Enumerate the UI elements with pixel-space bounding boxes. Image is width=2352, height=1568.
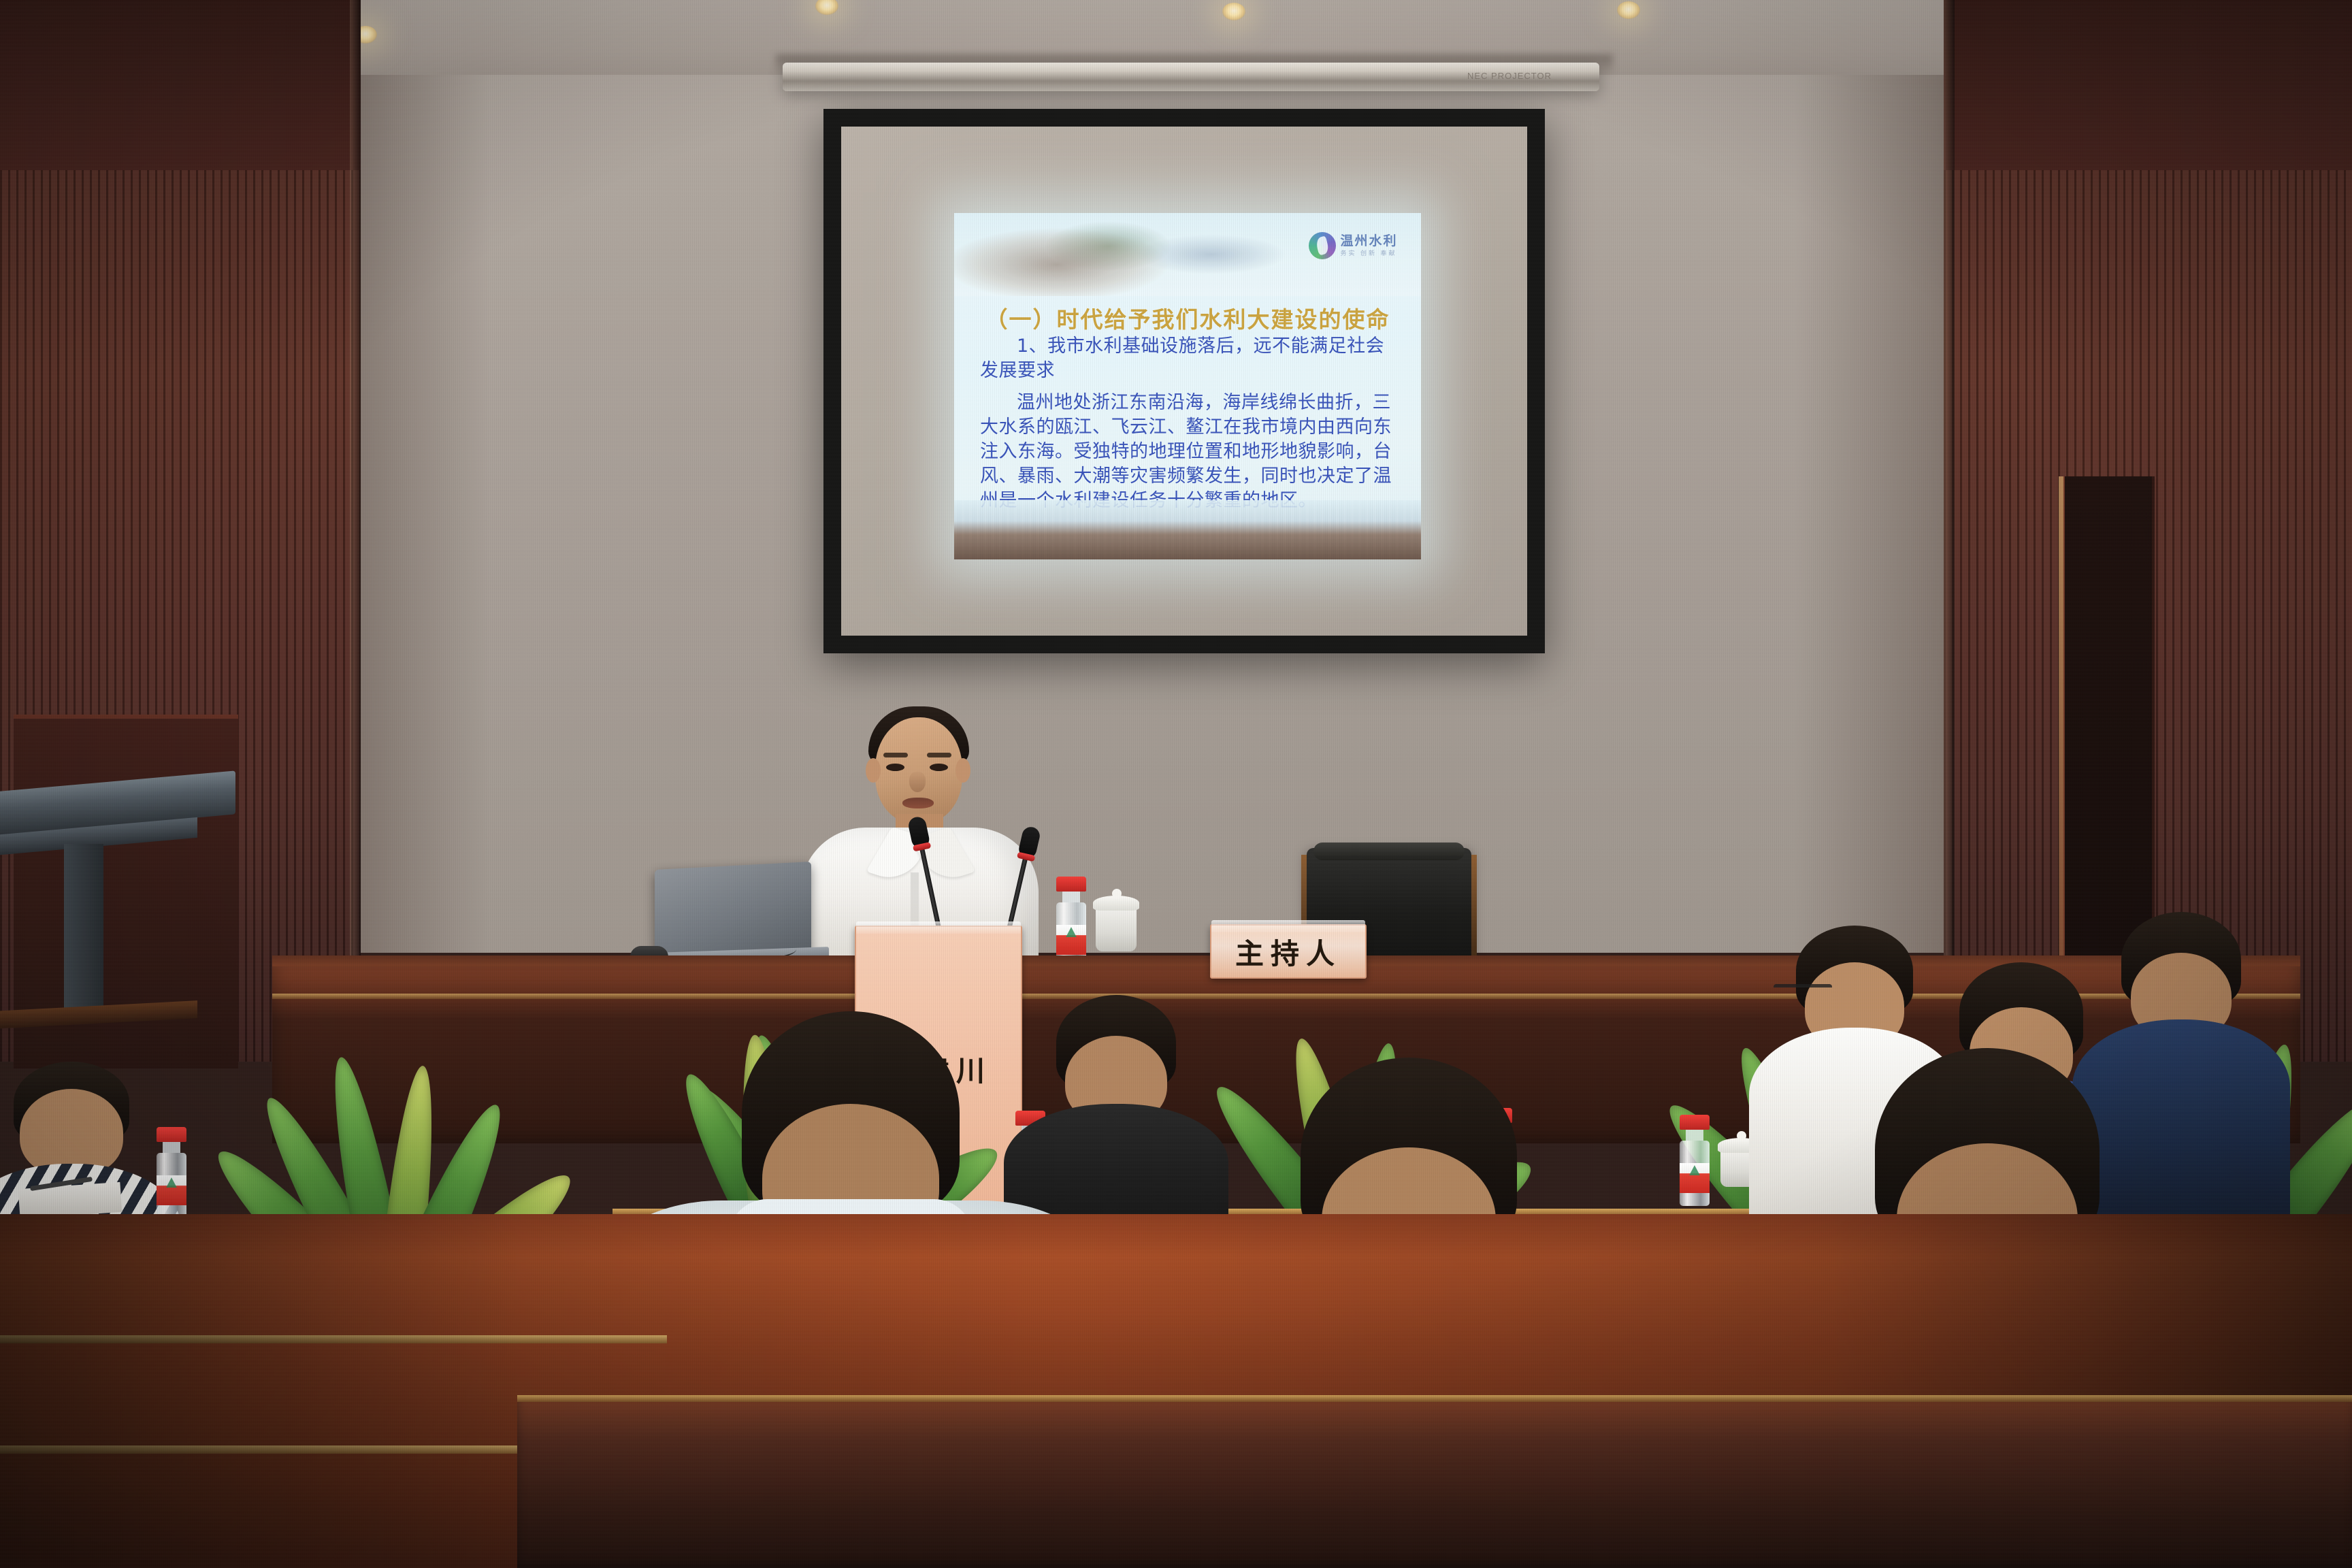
logo-subtitle: 务实 创新 奉献 [1340, 250, 1397, 257]
slide-footer-photo [954, 500, 1420, 559]
ceiling-downlight [1222, 3, 1245, 20]
placard-acrylic-front [1211, 920, 1365, 932]
speaker-ear-left [866, 758, 881, 783]
head [20, 1089, 123, 1176]
slide-logo: 温州水利 务实 创新 奉献 [1309, 232, 1397, 259]
water-bottle[interactable] [157, 1127, 186, 1218]
presentation-slide: 温州水利 务实 创新 奉献 （一）时代给予我们水利大建设的使命 1、我市水利基础… [954, 213, 1420, 559]
water-resources-logo-icon [1309, 232, 1336, 259]
speaker-eye-right [930, 764, 948, 771]
slide-bullet-1: 1、我市水利基础设施落后，远不能满足社会发展要求 [980, 334, 1400, 383]
bottle-label [157, 1175, 186, 1205]
water-bottle[interactable] [1056, 877, 1086, 968]
projector-screen-roller[interactable]: NEC PROJECTOR [783, 63, 1599, 91]
panel-edge [1944, 0, 1955, 1062]
placard-acrylic-front [856, 921, 1021, 934]
chair-headrest [1313, 843, 1465, 860]
panel-edge [350, 0, 361, 1062]
teacup-knob [1112, 889, 1122, 898]
placard-host-name: 主持人 [1235, 931, 1341, 973]
speaker-brow-right [927, 753, 951, 757]
bottle-cap [157, 1127, 186, 1142]
bottle-label [1056, 925, 1086, 955]
panel-top-band [0, 0, 361, 170]
bottle-neck [163, 1142, 180, 1153]
speaker-mouth [902, 798, 934, 808]
lectern[interactable] [0, 781, 235, 1006]
logo-text-block: 温州水利 务实 创新 奉献 [1340, 235, 1397, 257]
speaker-nose [909, 772, 926, 792]
panel-top-band [1944, 0, 2352, 170]
speaker-ear-right [955, 758, 970, 783]
conference-room-photo: NEC PROJECTOR 温州水利 务实 创新 奉献 （一）时代给予我们水利大… [0, 0, 2352, 1568]
bottle-cap [1056, 877, 1086, 892]
slide-paragraph-1: 温州地处浙江东南沿海，海岸线绵长曲折，三大水系的瓯江、飞云江、鳌江在我市境内由西… [980, 391, 1400, 514]
slide-title: （一）时代给予我们水利大建设的使命 [954, 301, 1420, 334]
eyeglasses-icon [1774, 984, 1832, 995]
lectern-stem [64, 844, 103, 1014]
name-placard-host: 主持人 [1210, 924, 1367, 979]
front-bench-slab [517, 1398, 2352, 1568]
screen-surface: 温州水利 务实 创新 奉献 （一）时代给予我们水利大建设的使命 1、我市水利基础… [841, 127, 1527, 636]
bottle-body [157, 1153, 186, 1218]
projector-brand-label: NEC PROJECTOR [1467, 71, 1552, 81]
bottle-neck [1062, 892, 1080, 902]
projection-screen: 温州水利 务实 创新 奉献 （一）时代给予我们水利大建设的使命 1、我市水利基础… [823, 109, 1545, 653]
front-bench-rail [517, 1395, 2352, 1402]
ceiling-downlight [1617, 1, 1640, 19]
lidded-teacup[interactable] [1096, 906, 1137, 951]
logo-title: 温州水利 [1340, 235, 1397, 248]
slide-body: 1、我市水利基础设施落后，远不能满足社会发展要求 温州地处浙江东南沿海，海岸线绵… [980, 334, 1400, 520]
speaker-eye-left [886, 764, 904, 771]
speaker-brow-left [883, 753, 908, 757]
